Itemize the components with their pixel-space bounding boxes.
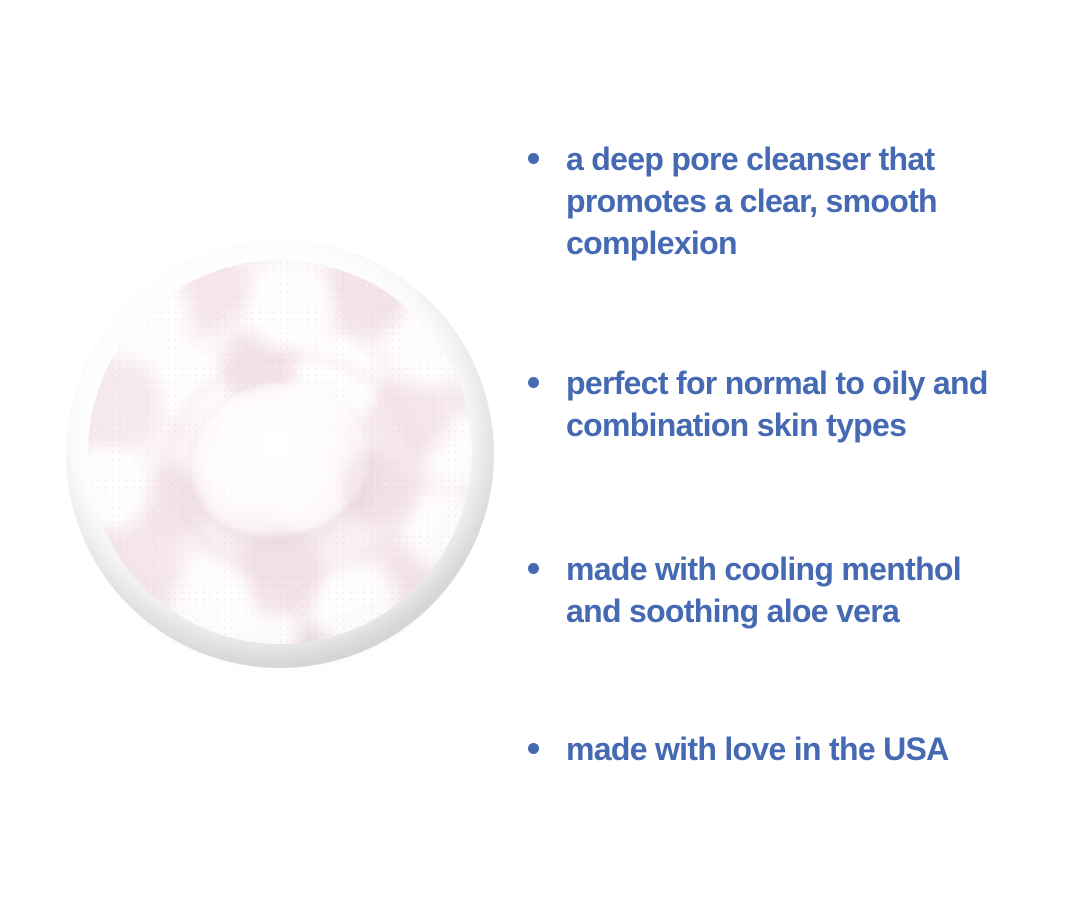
list-item: made with cooling menthol and soothing a… <box>528 548 1060 632</box>
list-item: perfect for normal to oily and combinati… <box>528 362 1060 446</box>
product-infographic-page: a deep pore cleanser that promotes a cle… <box>0 0 1069 913</box>
bullet-point-icon <box>528 377 539 388</box>
bullet-point-icon <box>528 153 539 164</box>
product-image-bowl-of-powder <box>58 236 504 676</box>
bullet-point-icon <box>528 743 539 754</box>
list-item: a deep pore cleanser that promotes a cle… <box>528 138 1060 264</box>
feature-text: perfect for normal to oily and combinati… <box>566 362 1060 446</box>
list-item: made with love in the USA <box>528 728 1060 770</box>
bullet-point-icon <box>528 563 539 574</box>
pink-powder-heap <box>88 260 472 644</box>
feature-text: made with love in the USA <box>566 728 1060 770</box>
feature-text: made with cooling menthol and soothing a… <box>566 548 1060 632</box>
feature-text: a deep pore cleanser that promotes a cle… <box>566 138 1060 264</box>
